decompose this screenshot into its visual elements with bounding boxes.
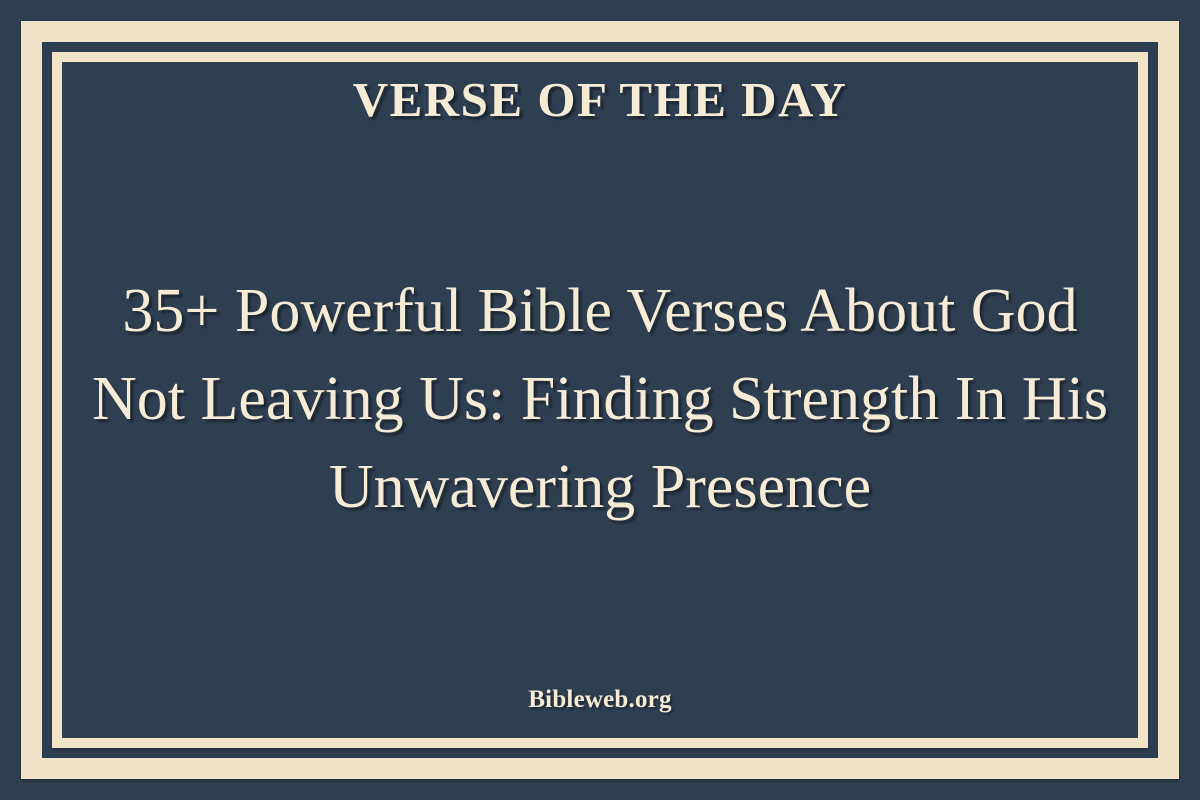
site-attribution: Bibleweb.org [528, 686, 671, 714]
verse-of-the-day-poster: Verse of the Day 35+ Powerful Bible Vers… [0, 0, 1200, 800]
headline-container: 35+ Powerful Bible Verses About God Not … [80, 111, 1120, 686]
poster-content: Verse of the Day 35+ Powerful Bible Vers… [62, 62, 1138, 738]
article-headline: 35+ Powerful Bible Verses About God Not … [80, 267, 1120, 531]
